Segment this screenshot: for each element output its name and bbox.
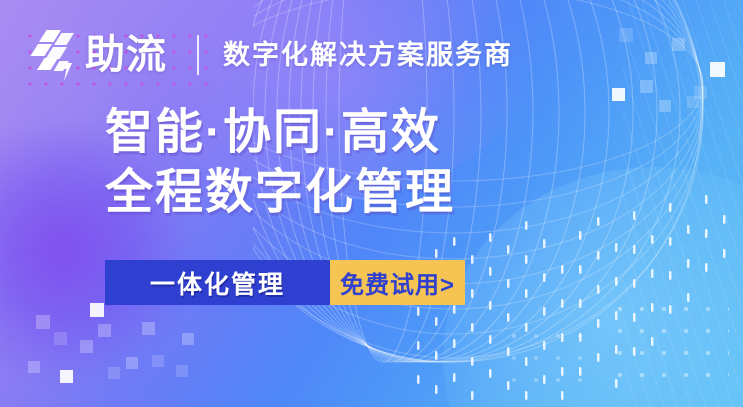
cta-row: 一体化管理 免费试用> (105, 260, 465, 305)
floating-square (176, 365, 188, 377)
floating-square (80, 340, 93, 353)
header-divider (197, 35, 199, 75)
corner-dot-grid-decor (609, 298, 729, 393)
floating-square (645, 52, 657, 64)
glow-bottom-right-decor (443, 167, 743, 407)
floating-square (659, 100, 671, 112)
promo-banner: 助流 数字化解决方案服务商 智能·协同·高效 全程数字化管理 一体化管理 免费试… (0, 0, 743, 407)
floating-square (54, 332, 67, 345)
floating-square (60, 370, 73, 383)
diagonal-hatch-decor (623, 0, 743, 407)
free-trial-button[interactable]: 免费试用> (330, 260, 465, 305)
floating-square (710, 62, 725, 77)
headline-line-1: 智能·协同·高效 (105, 103, 455, 163)
floating-square (672, 38, 685, 51)
floating-square (612, 88, 625, 101)
floating-square (36, 315, 50, 329)
brand-header: 助流 数字化解决方案服务商 (28, 29, 513, 81)
brand-tagline: 数字化解决方案服务商 (223, 42, 513, 69)
floating-square (28, 361, 40, 373)
floating-square (108, 367, 120, 379)
feature-label-text: 一体化管理 (150, 265, 285, 301)
free-trial-button-label: 免费试用> (340, 265, 455, 300)
feature-label-bar: 一体化管理 (105, 260, 330, 305)
floating-square (152, 355, 164, 367)
floating-square (619, 28, 633, 42)
floating-square (182, 333, 194, 345)
headline-line-2: 全程数字化管理 (105, 163, 455, 223)
floating-square (98, 324, 111, 337)
floating-square (687, 96, 699, 108)
floating-square (90, 303, 104, 317)
floating-square (142, 322, 155, 335)
lightning-bolt-logo-icon (28, 29, 78, 81)
headline-block: 智能·协同·高效 全程数字化管理 (105, 103, 455, 223)
floating-square (694, 86, 707, 99)
floating-square (640, 80, 653, 93)
mid-dot-grid-decor (503, 325, 593, 385)
brand-name: 助流 (85, 35, 167, 75)
floating-square (126, 357, 138, 369)
